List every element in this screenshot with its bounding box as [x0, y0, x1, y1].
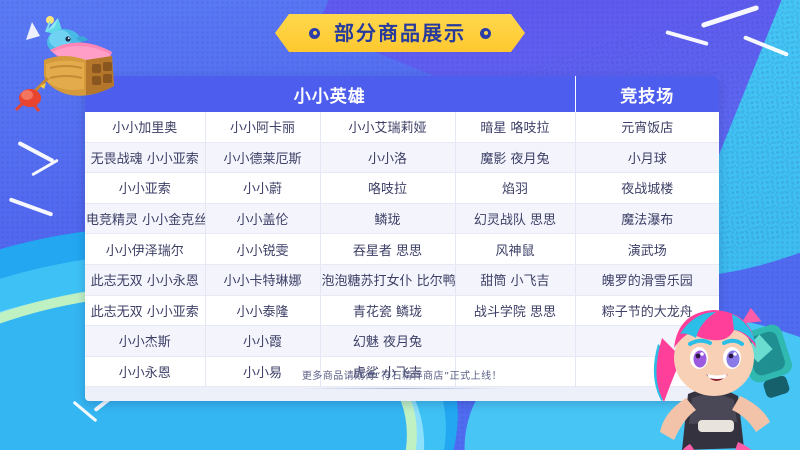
table-cell — [455, 326, 575, 357]
table-cell: 青花瓷 鳞珑 — [320, 295, 455, 326]
table-cell: 小小锐雯 — [205, 234, 320, 265]
table-cell: 小小杰斯 — [85, 326, 205, 357]
table-cell: 泡泡糖苏打女仆 比尔鸭 — [320, 264, 455, 295]
table-row: 电竞精灵 小小金克丝小小盖伦鳞珑幻灵战队 思思魔法瀑布 — [85, 203, 719, 234]
table-cell: 小小艾瑞莉娅 — [320, 112, 455, 142]
table-cell: 小小卡特琳娜 — [205, 264, 320, 295]
table-cell: 魔法瀑布 — [575, 203, 719, 234]
product-showcase-card: 小小英雄 竞技场 小小加里奥小小阿卡丽小小艾瑞莉娅暗星 咯吱拉元宵饭店无畏战魂 … — [85, 76, 719, 401]
table-cell: 小小伊泽瑞尔 — [85, 234, 205, 265]
table-cell: 魔影 夜月兔 — [455, 142, 575, 173]
table-row: 此志无双 小小永恩小小卡特琳娜泡泡糖苏打女仆 比尔鸭甜筒 小飞吉魄罗的滑雪乐园 — [85, 264, 719, 295]
product-table: 小小英雄 竞技场 小小加里奥小小阿卡丽小小艾瑞莉娅暗星 咯吱拉元宵饭店无畏战魂 … — [85, 76, 719, 387]
chibi-hero-icon — [628, 286, 800, 450]
table-cell: 暗星 咯吱拉 — [455, 112, 575, 142]
table-row: 小小加里奥小小阿卡丽小小艾瑞莉娅暗星 咯吱拉元宵饭店 — [85, 112, 719, 142]
table-cell: 小月球 — [575, 142, 719, 173]
table-row: 小小杰斯小小霞幻魅 夜月兔 — [85, 326, 719, 357]
table-cell: 幻灵战队 思思 — [455, 203, 575, 234]
table-cell: 小小盖伦 — [205, 203, 320, 234]
table-cell: 演武场 — [575, 234, 719, 265]
table-cell: 小小阿卡丽 — [205, 112, 320, 142]
page-title: 部分商品展示 — [334, 23, 466, 43]
table-body: 小小加里奥小小阿卡丽小小艾瑞莉娅暗星 咯吱拉元宵饭店无畏战魂 小小亚索小小德莱厄… — [85, 112, 719, 387]
table-cell: 咯吱拉 — [320, 173, 455, 204]
table-header-row: 小小英雄 竞技场 — [85, 76, 719, 112]
table-cell: 甜筒 小飞吉 — [455, 264, 575, 295]
table-header-little-legends: 小小英雄 — [85, 76, 575, 112]
table-row: 无畏战魂 小小亚索小小德莱厄斯小小洛魔影 夜月兔小月球 — [85, 142, 719, 173]
footnote-divider — [297, 388, 507, 389]
table-cell: 鳞珑 — [320, 203, 455, 234]
table-cell: 小小洛 — [320, 142, 455, 173]
table-cell: 小小德莱厄斯 — [205, 142, 320, 173]
page-title-banner: 部分商品展示 — [275, 14, 525, 52]
table-row: 此志无双 小小亚索小小泰隆青花瓷 鳞珑战斗学院 思思粽子节的大龙舟 — [85, 295, 719, 326]
table-cell: 小小亚索 — [85, 173, 205, 204]
table-cell: 夜战城楼 — [575, 173, 719, 204]
table-cell: 此志无双 小小永恩 — [85, 264, 205, 295]
table-row: 小小亚索小小蔚咯吱拉焰羽夜战城楼 — [85, 173, 719, 204]
footnote-text: 更多商品请期待“符石精粹商店”正式上线！ — [85, 367, 719, 382]
diamond-dot-icon — [480, 28, 491, 39]
table-cell: 此志无双 小小亚索 — [85, 295, 205, 326]
screenshot-root: 部分商品展示 小小英雄 竞技场 小小加里奥小小阿卡丽小小艾瑞莉娅暗星 咯吱拉元宵… — [0, 0, 800, 450]
table-cell: 小小泰隆 — [205, 295, 320, 326]
table-cell: 小小霞 — [205, 326, 320, 357]
table-cell: 无畏战魂 小小亚索 — [85, 142, 205, 173]
table-cell: 风神鼠 — [455, 234, 575, 265]
table-header-arena: 竞技场 — [575, 76, 719, 112]
table-cell: 电竞精灵 小小金克丝 — [85, 203, 205, 234]
table-cell: 幻魅 夜月兔 — [320, 326, 455, 357]
diamond-dot-icon — [309, 28, 320, 39]
waffle-house-sprite-icon — [6, 6, 126, 118]
table-cell: 焰羽 — [455, 173, 575, 204]
table-cell: 战斗学院 思思 — [455, 295, 575, 326]
table-cell: 吞星者 思思 — [320, 234, 455, 265]
table-cell: 小小蔚 — [205, 173, 320, 204]
table-cell: 元宵饭店 — [575, 112, 719, 142]
table-row: 小小伊泽瑞尔小小锐雯吞星者 思思风神鼠演武场 — [85, 234, 719, 265]
